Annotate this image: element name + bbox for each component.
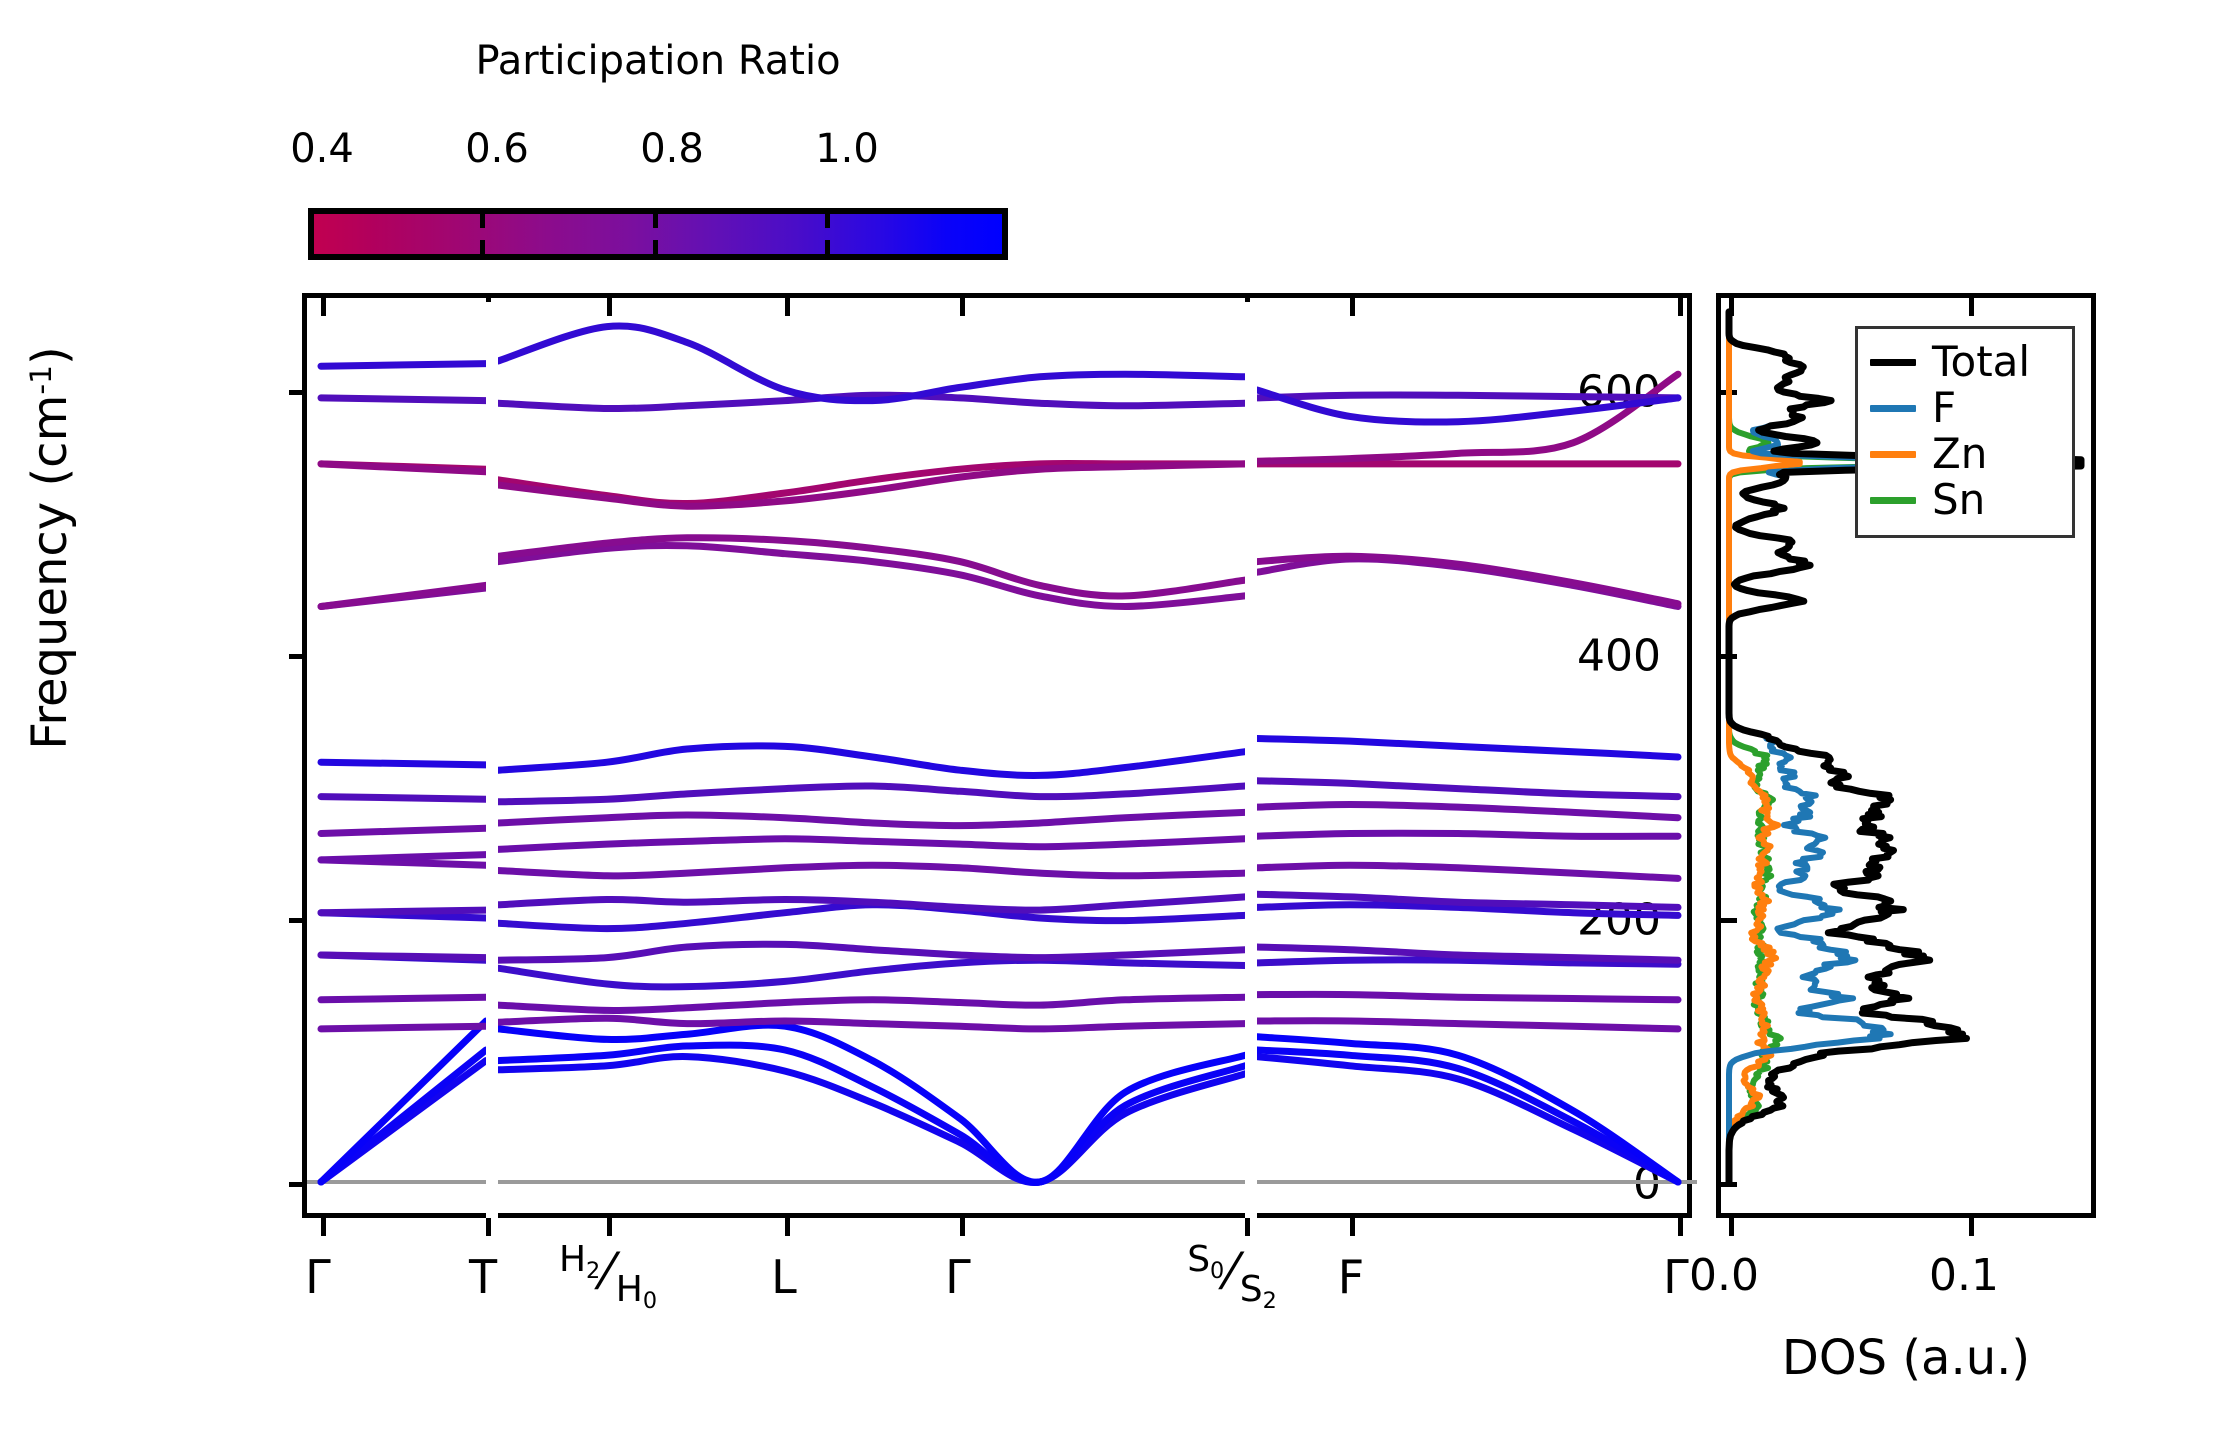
band-branch bbox=[321, 398, 486, 401]
band-branch bbox=[321, 1021, 486, 1182]
band-branch bbox=[321, 797, 486, 800]
kpath-break-H0 bbox=[1245, 302, 1257, 1218]
dos-x-axis-label: DOS (a.u.) bbox=[1716, 1330, 2096, 1386]
band-branch bbox=[321, 855, 486, 860]
band-branch bbox=[498, 960, 1245, 987]
dos-xtick-label-0p1: 0.1 bbox=[1864, 1250, 2064, 1301]
band-branch bbox=[1257, 1050, 1678, 1182]
band-ytick-600 bbox=[289, 390, 307, 395]
legend-item-f: F bbox=[1870, 385, 2060, 431]
band-branch bbox=[498, 997, 1245, 1010]
colorbar-tick-1b bbox=[653, 240, 658, 254]
band-branch bbox=[321, 910, 486, 913]
colorbar-tick-1 bbox=[653, 214, 658, 228]
legend-item-sn: Sn bbox=[1870, 477, 2060, 523]
colorbar-tick-label-3: 1.0 bbox=[787, 126, 907, 172]
band-branch bbox=[1257, 1037, 1678, 1182]
legend-swatch-sn bbox=[1870, 497, 1916, 504]
colorbar-tick-label-1: 0.6 bbox=[437, 126, 557, 172]
band-branch bbox=[1257, 395, 1678, 398]
band-branch bbox=[498, 326, 1245, 401]
legend-swatch-total bbox=[1870, 359, 1916, 366]
band-branch bbox=[498, 839, 1245, 850]
band-branch bbox=[1257, 805, 1678, 818]
legend-swatch-f bbox=[1870, 405, 1916, 412]
band-branch bbox=[498, 865, 1245, 876]
colorbar-tick-0b bbox=[480, 240, 485, 254]
band-branch bbox=[498, 786, 1245, 802]
legend-item-zn: Zn bbox=[1870, 431, 2060, 477]
band-branch bbox=[321, 1026, 486, 1029]
band-ytick-200 bbox=[289, 918, 307, 923]
dos-xtick-label-0: 0.0 bbox=[1624, 1250, 1824, 1301]
band-branch bbox=[321, 585, 486, 606]
y-axis-label-text: Frequency (cm bbox=[22, 395, 78, 750]
band-branch bbox=[321, 762, 486, 765]
legend-item-total: Total bbox=[1870, 339, 2060, 385]
colorbar-tick-label-0: 0.4 bbox=[262, 126, 382, 172]
band-branch bbox=[1257, 781, 1678, 797]
band-branch bbox=[498, 464, 1245, 506]
band-xlabel-F: F bbox=[1241, 1250, 1461, 1304]
band-branch bbox=[1257, 374, 1678, 461]
band-branch bbox=[498, 1057, 1245, 1183]
band-branch bbox=[1257, 1057, 1678, 1182]
y-axis-label-exponent: -1 bbox=[24, 365, 59, 395]
band-branch bbox=[321, 955, 486, 958]
band-branch bbox=[321, 997, 486, 1000]
band-branch bbox=[321, 364, 486, 367]
legend-label-zn: Zn bbox=[1932, 433, 1987, 475]
band-branch bbox=[321, 828, 486, 833]
band-branch bbox=[1257, 1021, 1678, 1029]
band-branch bbox=[1257, 994, 1678, 999]
band-branch bbox=[1257, 833, 1678, 836]
band-ytick-400 bbox=[289, 654, 307, 659]
figure-canvas: Participation Ratio 0.4 0.6 0.8 1.0 Freq… bbox=[0, 0, 2222, 1455]
band-branch bbox=[498, 944, 1245, 960]
band-structure-axes: 0 200 400 600 bbox=[302, 293, 1692, 1218]
colorbar-tick-label-2: 0.8 bbox=[612, 126, 732, 172]
colorbar-title: Participation Ratio bbox=[308, 38, 1008, 84]
dos-legend: Total F Zn Sn bbox=[1855, 326, 2075, 538]
band-ytick-0 bbox=[289, 1182, 307, 1187]
band-curves bbox=[307, 298, 1697, 1223]
band-branch bbox=[498, 746, 1245, 776]
y-axis-label: Frequency (cm-1) bbox=[22, 168, 78, 928]
band-branch bbox=[498, 905, 1245, 929]
band-branch bbox=[498, 812, 1245, 825]
band-branch bbox=[1257, 865, 1678, 878]
colorbar-tick-2b bbox=[825, 240, 830, 254]
band-branch bbox=[498, 1018, 1245, 1029]
legend-label-total: Total bbox=[1932, 341, 2030, 383]
colorbar-tick-2 bbox=[825, 214, 830, 228]
legend-swatch-zn bbox=[1870, 451, 1916, 458]
band-branch bbox=[1257, 739, 1678, 758]
participation-ratio-colorbar bbox=[308, 208, 1008, 260]
legend-label-sn: Sn bbox=[1932, 479, 1985, 521]
colorbar-tick-0 bbox=[480, 214, 485, 228]
kpath-break-T bbox=[486, 302, 498, 1218]
band-xlabel-gamma2: Γ bbox=[848, 1250, 1068, 1304]
legend-label-f: F bbox=[1932, 387, 1956, 429]
y-axis-label-close: ) bbox=[22, 346, 78, 365]
colorbar-gradient bbox=[308, 208, 1008, 260]
